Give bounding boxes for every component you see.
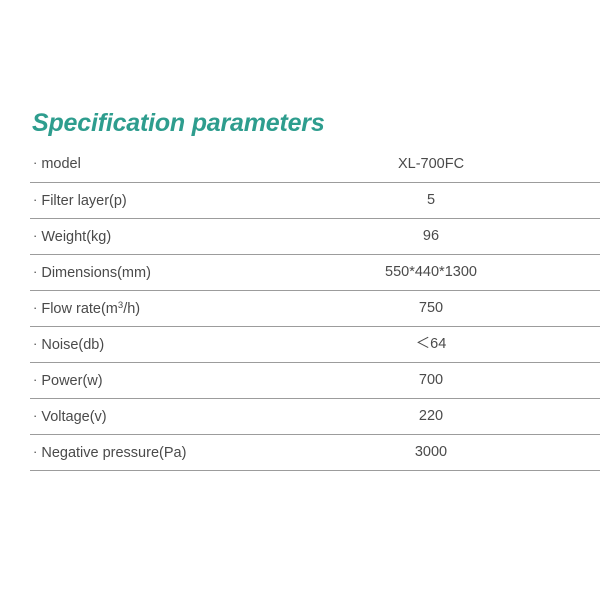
table-row: ·Power(w) 700 bbox=[30, 362, 600, 398]
bullet-icon: · bbox=[33, 335, 37, 353]
spec-value-cell: 700 bbox=[291, 362, 600, 398]
spec-label-text: Dimensions(mm) bbox=[41, 265, 151, 281]
spec-value-cell: 550*440*1300 bbox=[291, 254, 600, 290]
spec-value-cell: ＜64 bbox=[291, 326, 600, 362]
spec-label-cell: ·model bbox=[30, 146, 291, 182]
spec-label-text-pre: Flow rate(m bbox=[41, 301, 118, 317]
bullet-icon: · bbox=[33, 227, 37, 245]
table-row: ·Negative pressure(Pa) 3000 bbox=[30, 434, 600, 470]
spec-label-text-post: /h) bbox=[123, 301, 140, 317]
page-title: Specification parameters bbox=[32, 106, 568, 140]
spec-label-text: Weight(kg) bbox=[41, 229, 111, 245]
spec-label-text: Power(w) bbox=[41, 373, 102, 389]
spec-value-cell: 3000 bbox=[291, 434, 600, 470]
spec-label-text: Voltage(v) bbox=[41, 409, 106, 425]
table-row: ·Weight(kg) 96 bbox=[30, 218, 600, 254]
bullet-icon: · bbox=[33, 407, 37, 425]
spec-label-cell: ·Noise(db) bbox=[30, 326, 291, 362]
table-row: ·Dimensions(mm) 550*440*1300 bbox=[30, 254, 600, 290]
spec-label-text: Filter layer(p) bbox=[41, 193, 126, 209]
spec-value-cell: 96 bbox=[291, 218, 600, 254]
specification-page: Specification parameters ·model XL-700FC… bbox=[0, 0, 600, 600]
spec-label-text: Noise(db) bbox=[41, 337, 104, 353]
spec-value-cell: 220 bbox=[291, 398, 600, 434]
table-row: ·Filter layer(p) 5 bbox=[30, 182, 600, 218]
table-row: ·Flow rate(m3/h) 750 bbox=[30, 290, 600, 326]
specification-table: ·model XL-700FC ·Filter layer(p) 5 ·Weig… bbox=[30, 146, 600, 471]
table-row: ·Noise(db) ＜64 bbox=[30, 326, 600, 362]
spec-label-cell: ·Power(w) bbox=[30, 362, 291, 398]
spec-value-cell: 5 bbox=[291, 182, 600, 218]
bullet-icon: · bbox=[33, 154, 37, 172]
spec-label-text: model bbox=[41, 156, 81, 172]
bullet-icon: · bbox=[33, 371, 37, 389]
table-row: ·model XL-700FC bbox=[30, 146, 600, 182]
spec-label-cell: ·Flow rate(m3/h) bbox=[30, 290, 291, 326]
spec-label-cell: ·Dimensions(mm) bbox=[30, 254, 291, 290]
spec-label-text: Negative pressure(Pa) bbox=[41, 445, 186, 461]
spec-value-cell: 750 bbox=[291, 290, 600, 326]
specification-table-body: ·model XL-700FC ·Filter layer(p) 5 ·Weig… bbox=[30, 146, 600, 470]
specification-block: Specification parameters ·model XL-700FC… bbox=[30, 106, 568, 471]
spec-label-cell: ·Filter layer(p) bbox=[30, 182, 291, 218]
spec-label-cell: ·Weight(kg) bbox=[30, 218, 291, 254]
bullet-icon: · bbox=[33, 299, 37, 317]
bullet-icon: · bbox=[33, 443, 37, 461]
bullet-icon: · bbox=[33, 263, 37, 281]
spec-value-cell: XL-700FC bbox=[291, 146, 600, 182]
table-row: ·Voltage(v) 220 bbox=[30, 398, 600, 434]
spec-label-cell: ·Negative pressure(Pa) bbox=[30, 434, 291, 470]
spec-label-cell: ·Voltage(v) bbox=[30, 398, 291, 434]
bullet-icon: · bbox=[33, 191, 37, 209]
